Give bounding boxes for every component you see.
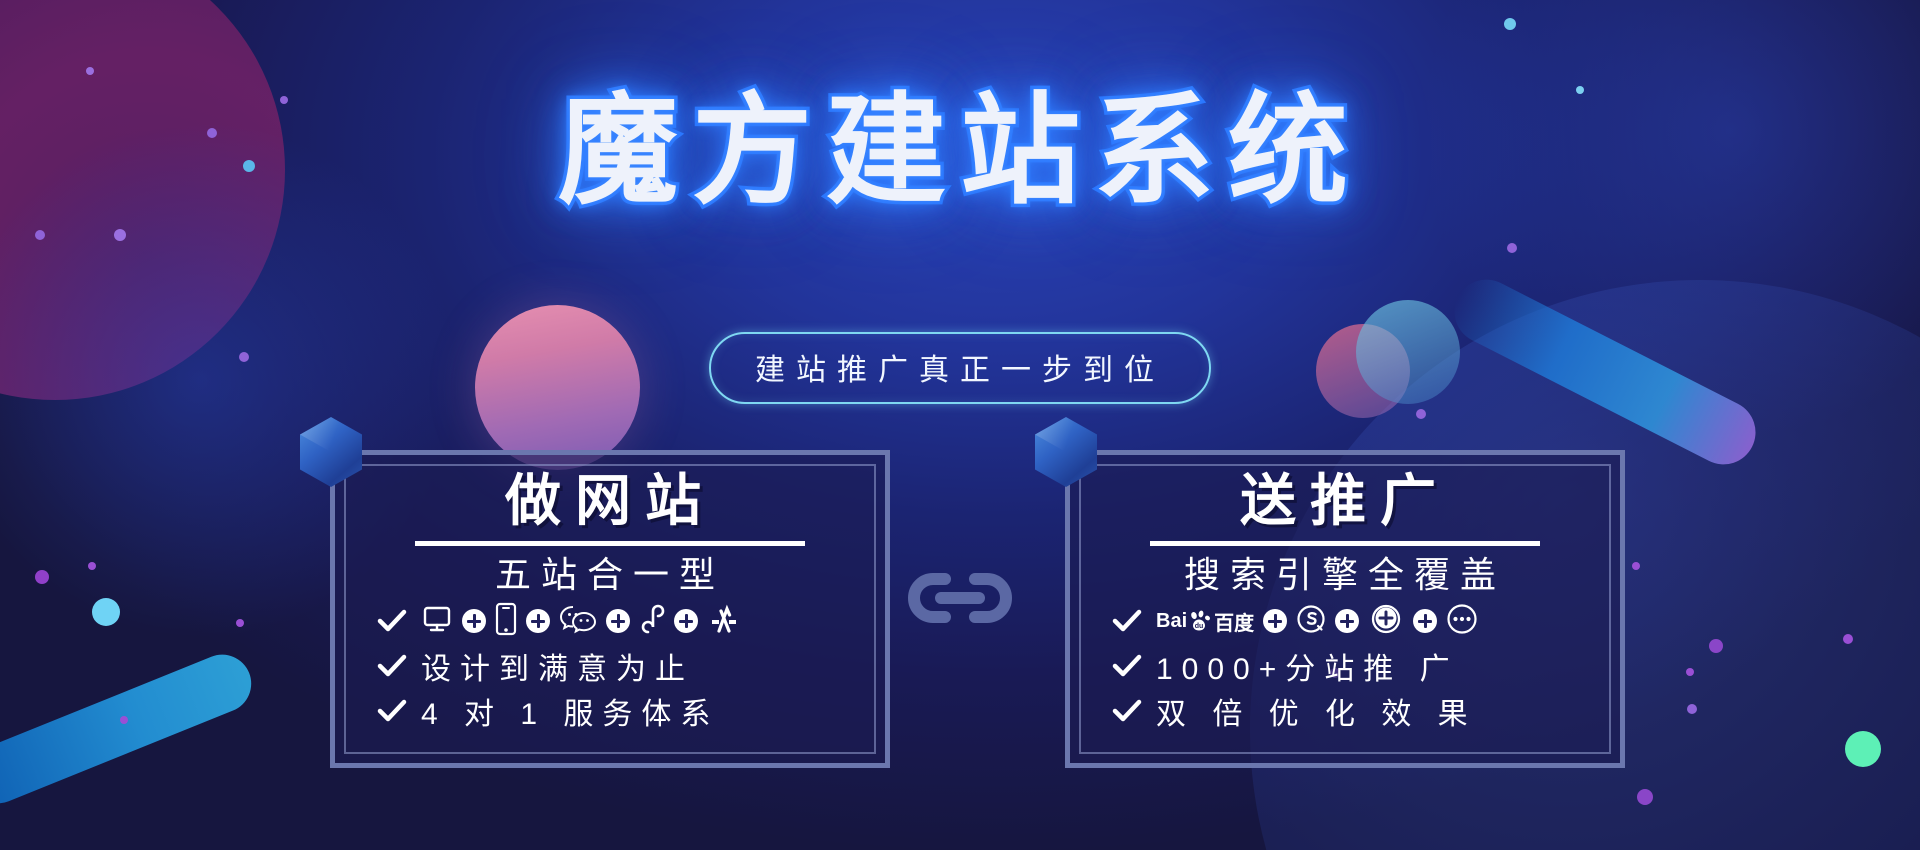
baidu-cn: 百度	[1214, 607, 1254, 636]
decorative-bubble-pink	[1316, 324, 1410, 418]
feature-row-design: 设计到满意为止	[377, 647, 885, 685]
platform-logo-row	[421, 602, 741, 641]
hero-subtitle-pill: 建站推广真正一步到位	[709, 332, 1211, 404]
decorative-dot	[88, 562, 96, 570]
panel-make-website[interactable]: 做网站 五站合一型	[330, 450, 890, 768]
decorative-dot	[1687, 704, 1697, 714]
wechat-icon	[559, 604, 597, 639]
feature-row-double-effect: 双 倍 优 化 效 果	[1112, 692, 1620, 730]
decorative-dot	[1686, 668, 1694, 676]
decorative-dot	[239, 352, 249, 362]
mint-dot-large	[1845, 731, 1881, 767]
feature-label: 双 倍 优 化 效 果	[1156, 689, 1477, 733]
decorative-dot	[1507, 243, 1517, 253]
plus-circle-icon	[606, 609, 630, 633]
title-underline	[1150, 541, 1540, 546]
decorative-blue-glow-topright	[1420, 0, 1920, 440]
cyan-dot-large	[92, 598, 120, 626]
decorative-dot	[35, 570, 49, 584]
360-search-plus-icon	[1368, 601, 1404, 642]
feature-label: 4 对 1 服务体系	[421, 689, 719, 733]
feature-label: 设计到满意为止	[421, 644, 694, 688]
douyin-music-note-icon	[639, 602, 665, 641]
decorative-streak-bottomleft	[0, 646, 260, 812]
svg-text:du: du	[1195, 623, 1204, 630]
decorative-streak-topright	[1443, 269, 1766, 476]
banner-canvas: 魔方建站系统 建站推广真正一步到位 做网站 五站合一型	[0, 0, 1920, 850]
check-icon	[377, 651, 407, 681]
panel-title-make-website: 做网站	[335, 473, 885, 532]
panel-subtitle-make-website: 五站合一型	[335, 554, 885, 595]
search-engine-logo-row: Bai du 百度	[1156, 601, 1478, 642]
title-underline	[415, 541, 805, 546]
decorative-dot	[1504, 18, 1516, 30]
plus-circle-icon	[526, 609, 550, 633]
decorative-dot	[120, 716, 128, 724]
panel-subtitle-free-promotion: 搜索引擎全覆盖	[1070, 554, 1620, 595]
check-icon	[377, 606, 407, 636]
feature-row-engines: Bai du 百度	[1112, 602, 1620, 640]
feature-label: 1000+分站推 广	[1156, 644, 1459, 688]
feature-row-service: 4 对 1 服务体系	[377, 692, 885, 730]
check-icon	[377, 696, 407, 726]
decorative-pink-sphere	[475, 305, 640, 470]
check-icon	[1112, 696, 1142, 726]
feature-row-platforms	[377, 602, 885, 640]
decorative-dot	[1416, 409, 1426, 419]
plus-circle-icon	[674, 609, 698, 633]
decorative-dot	[1637, 789, 1653, 805]
baidu-latin: Bai	[1156, 610, 1187, 633]
plus-circle-icon	[462, 609, 486, 633]
baidu-logo-icon: Bai du 百度	[1156, 607, 1254, 636]
mobile-phone-icon	[495, 602, 517, 641]
decorative-dot	[114, 229, 126, 241]
decorative-dot	[236, 619, 244, 627]
decorative-dot	[1843, 634, 1853, 644]
check-icon	[1112, 606, 1142, 636]
panel-free-promotion[interactable]: 送推广 搜索引擎全覆盖 Bai du	[1065, 450, 1625, 768]
decorative-dot	[35, 230, 45, 240]
app-store-icon	[707, 604, 741, 639]
sogou-s-icon	[1296, 604, 1326, 639]
decorative-bubble-cyan	[1356, 300, 1460, 404]
plus-circle-icon	[1263, 609, 1287, 633]
decorative-dot	[1632, 562, 1640, 570]
more-ellipsis-icon	[1446, 603, 1478, 640]
desktop-monitor-icon	[421, 603, 453, 640]
panel-title-free-promotion: 送推广	[1070, 473, 1620, 532]
link-chain-icon	[905, 565, 1015, 631]
page-title: 魔方建站系统	[0, 92, 1920, 212]
plus-circle-icon	[1413, 609, 1437, 633]
check-icon	[1112, 651, 1142, 681]
decorative-dot	[1709, 639, 1723, 653]
plus-circle-icon	[1335, 609, 1359, 633]
decorative-dot	[86, 67, 94, 75]
feature-row-subsites: 1000+分站推 广	[1112, 647, 1620, 685]
